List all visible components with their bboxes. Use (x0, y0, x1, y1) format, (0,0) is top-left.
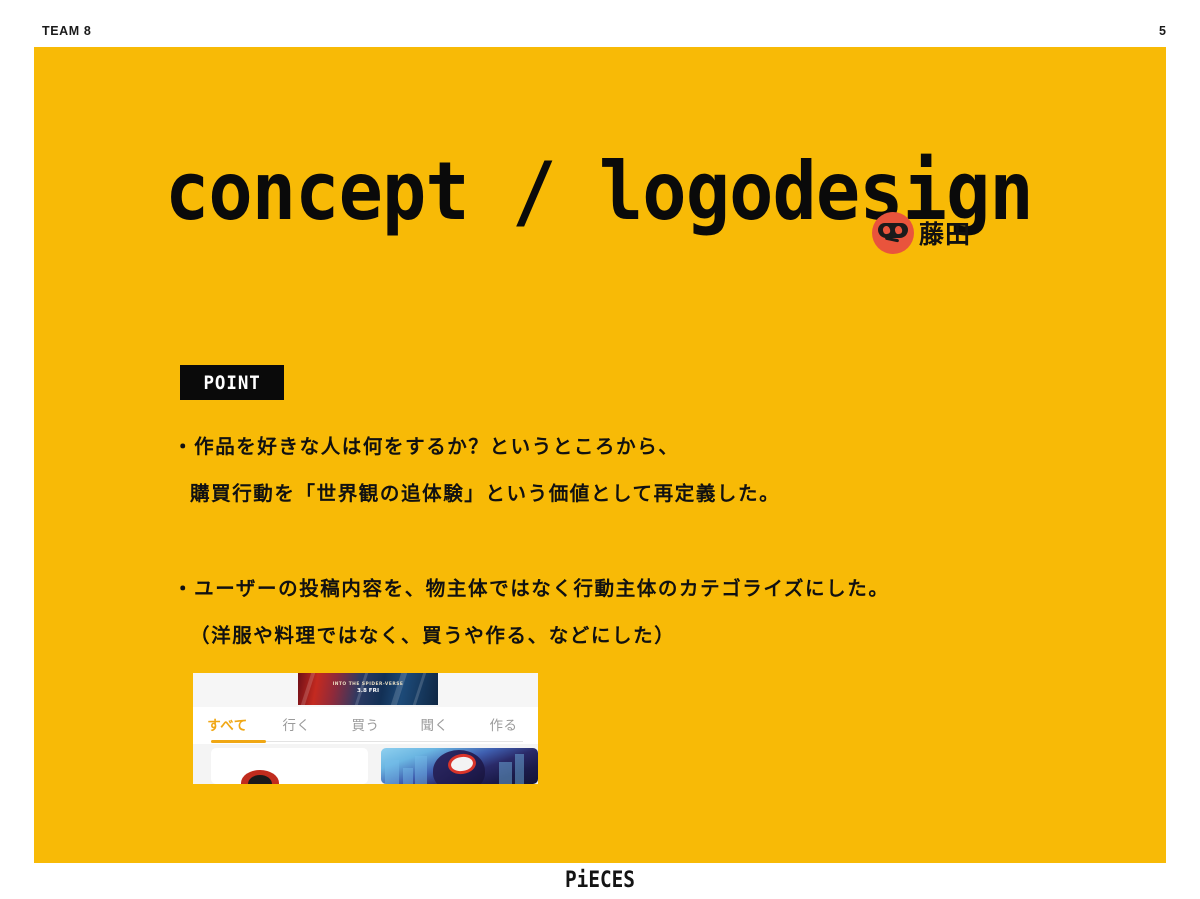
slide-root: TEAM 8 5 concept / logodesign 藤田 POINT (0, 0, 1200, 899)
bullet-block-2: ・ユーザーの投稿内容を、物主体ではなく行動主体のカテゴライズにした。 （洋服や料… (173, 565, 1073, 659)
card-building (415, 756, 427, 784)
bullet-line: ・ユーザーの投稿内容を、物主体ではなく行動主体のカテゴライズにした。 (173, 565, 1073, 612)
footer-logo: PiECES (72, 868, 1128, 893)
page-number: 5 (1159, 24, 1166, 38)
bullet-line: （洋服や料理ではなく、買うや作る、などにした） (173, 612, 1073, 659)
card-building (515, 754, 524, 784)
mockup-banner-title: INTO THE SPIDER-VERSE (298, 682, 438, 687)
bullet-block-1: ・作品を好きな人は何をするか？というところから、 購買行動を「世界観の追体験」と… (173, 423, 1073, 517)
mockup-banner-subtitle: 3.8 FRI (298, 688, 438, 694)
presenter-badge: 藤田 (872, 212, 971, 254)
team-label: TEAM 8 (42, 24, 91, 38)
bullet-line: ・作品を好きな人は何をするか？というところから、 (173, 423, 1073, 470)
card-building (499, 762, 512, 784)
mockup-card-left[interactable] (211, 748, 368, 784)
body-copy: ・作品を好きな人は何をするか？というところから、 購買行動を「世界観の追体験」と… (173, 423, 1073, 659)
mockup-tab-kiku[interactable]: 聞く (400, 714, 469, 734)
presenter-name: 藤田 (919, 215, 971, 251)
mockup-tab-bar: すべて 行く 買う 聞く 作る (193, 707, 538, 740)
point-badge-label: POINT (203, 372, 260, 394)
mockup-card-right[interactable] (381, 748, 538, 784)
point-badge: POINT (180, 365, 284, 400)
app-mockup-screenshot: INTO THE SPIDER-VERSE 3.8 FRI すべて 行く 買う … (193, 673, 538, 784)
slide-topbar: TEAM 8 5 (0, 0, 1200, 47)
mockup-tab-kau[interactable]: 買う (331, 714, 400, 734)
yellow-content-panel: concept / logodesign 藤田 POINT ・作品を好きな人は何… (34, 47, 1166, 863)
masked-face-avatar-icon (872, 212, 914, 254)
mockup-tab-tsukuru[interactable]: 作る (469, 714, 538, 734)
copy-spacer (173, 517, 1073, 565)
bullet-line: 購買行動を「世界観の追体験」という価値として再定義した。 (173, 470, 1073, 517)
tab-active-indicator (211, 740, 266, 743)
card-building (403, 768, 413, 784)
mockup-card-grid (193, 744, 538, 784)
mockup-banner-image: INTO THE SPIDER-VERSE 3.8 FRI (298, 673, 438, 705)
mockup-tab-subete[interactable]: すべて (193, 714, 262, 734)
card-building (385, 760, 399, 784)
mockup-tab-iku[interactable]: 行く (262, 714, 331, 734)
